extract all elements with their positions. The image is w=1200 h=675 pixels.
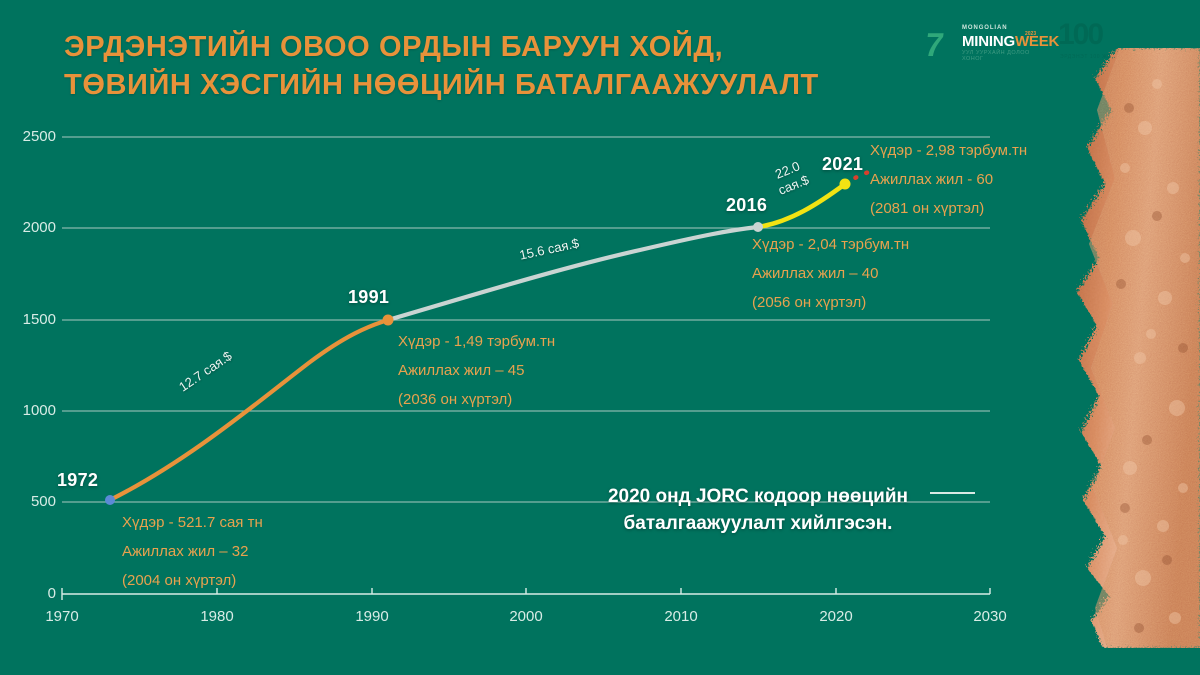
y-tick-2000: 2000 [0, 219, 56, 236]
infographic-slide: ЭРДЭНЭТИЙН ОВОО ОРДЫН БАРУУН ХОЙД, ТӨВИЙ… [0, 0, 1200, 675]
y-tick-0: 0 [0, 585, 56, 602]
jorc-caption: 2020 онд JORC кодоор нөөцийн баталгаажуу… [568, 484, 948, 538]
x-tick-1970: 1970 [32, 608, 92, 625]
x-tick-2020: 2020 [806, 608, 866, 625]
y-tick-500: 500 [0, 493, 56, 510]
x-tick-2030: 2030 [960, 608, 1020, 625]
year-label-2021: 2021 [822, 154, 863, 175]
annotation-1972: Хүдэр - 521.7 сая тн Ажиллах жил – 32 (2… [122, 509, 263, 595]
annotation-2021: Хүдэр - 2,98 тэрбум.тн Ажиллах жил - 60 … [870, 137, 1027, 223]
year-label-2016: 2016 [726, 195, 767, 216]
x-tick-1980: 1980 [187, 608, 247, 625]
y-tick-2500: 2500 [0, 128, 56, 145]
x-tick-1990: 1990 [342, 608, 402, 625]
grid-lines [62, 137, 990, 502]
x-tick-2010: 2010 [651, 608, 711, 625]
marker-2021 [840, 179, 851, 190]
annotation-2016: Хүдэр - 2,04 тэрбум.тн Ажиллах жил – 40 … [752, 231, 909, 317]
y-tick-1500: 1500 [0, 311, 56, 328]
marker-1991 [383, 315, 394, 326]
year-label-1991: 1991 [348, 287, 389, 308]
annotation-1991: Хүдэр - 1,49 тэрбум.тн Ажиллах жил – 45 … [398, 328, 555, 414]
year-label-1972: 1972 [57, 470, 98, 491]
reserve-growth-chart: 2500 2000 1500 1000 500 0 1970 1980 1990… [0, 0, 1200, 675]
x-tick-2000: 2000 [496, 608, 556, 625]
series-segment-1972-1991 [110, 320, 388, 500]
marker-1972 [105, 495, 115, 505]
y-tick-1000: 1000 [0, 402, 56, 419]
